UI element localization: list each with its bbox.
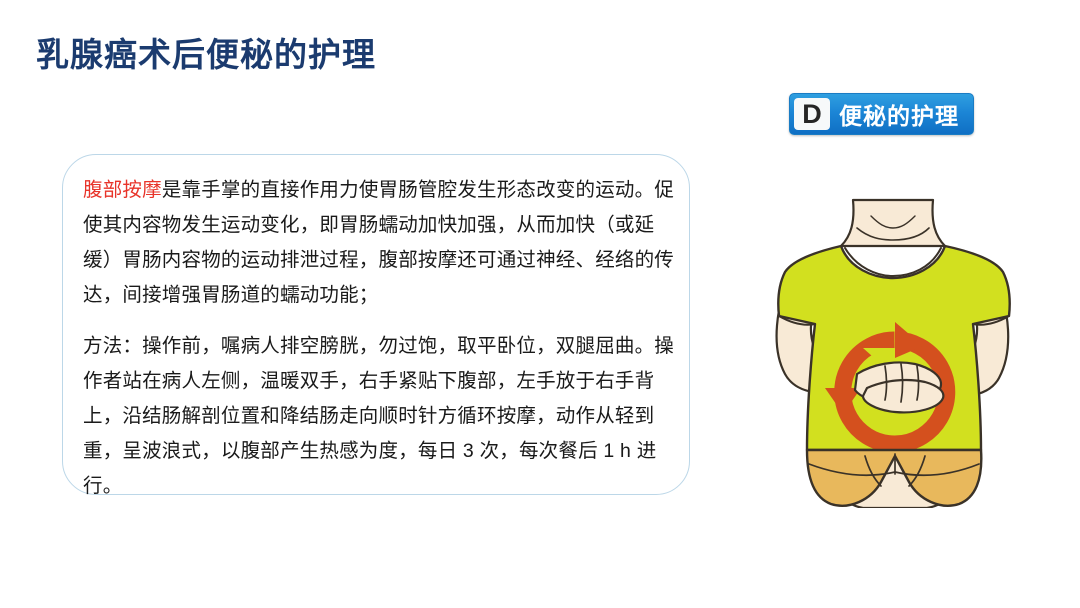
paragraph-definition: 腹部按摩是靠手掌的直接作用力使胃肠管腔发生形态改变的运动。促使其内容物发生运动变…: [83, 173, 675, 313]
card-body: 腹部按摩是靠手掌的直接作用力使胃肠管腔发生形态改变的运动。促使其内容物发生运动变…: [83, 173, 675, 504]
page-title: 乳腺癌术后便秘的护理: [36, 28, 376, 76]
highlight-term: 腹部按摩: [83, 179, 162, 201]
badge-label: 便秘的护理: [839, 97, 959, 131]
badge-letter: D: [794, 98, 830, 130]
section-badge: D 便秘的护理: [789, 93, 974, 135]
abdominal-massage-illustration: [745, 198, 1045, 508]
paragraph-definition-text: 是靠手掌的直接作用力使胃肠管腔发生形态改变的运动。促使其内容物发生运动变化，即胃…: [83, 179, 674, 306]
paragraph-method: 方法：操作前，嘱病人排空膀胱，勿过饱，取平卧位，双腿屈曲。操作者站在病人左侧，温…: [83, 329, 675, 504]
content-card: 腹部按摩是靠手掌的直接作用力使胃肠管腔发生形态改变的运动。促使其内容物发生运动变…: [62, 154, 690, 495]
